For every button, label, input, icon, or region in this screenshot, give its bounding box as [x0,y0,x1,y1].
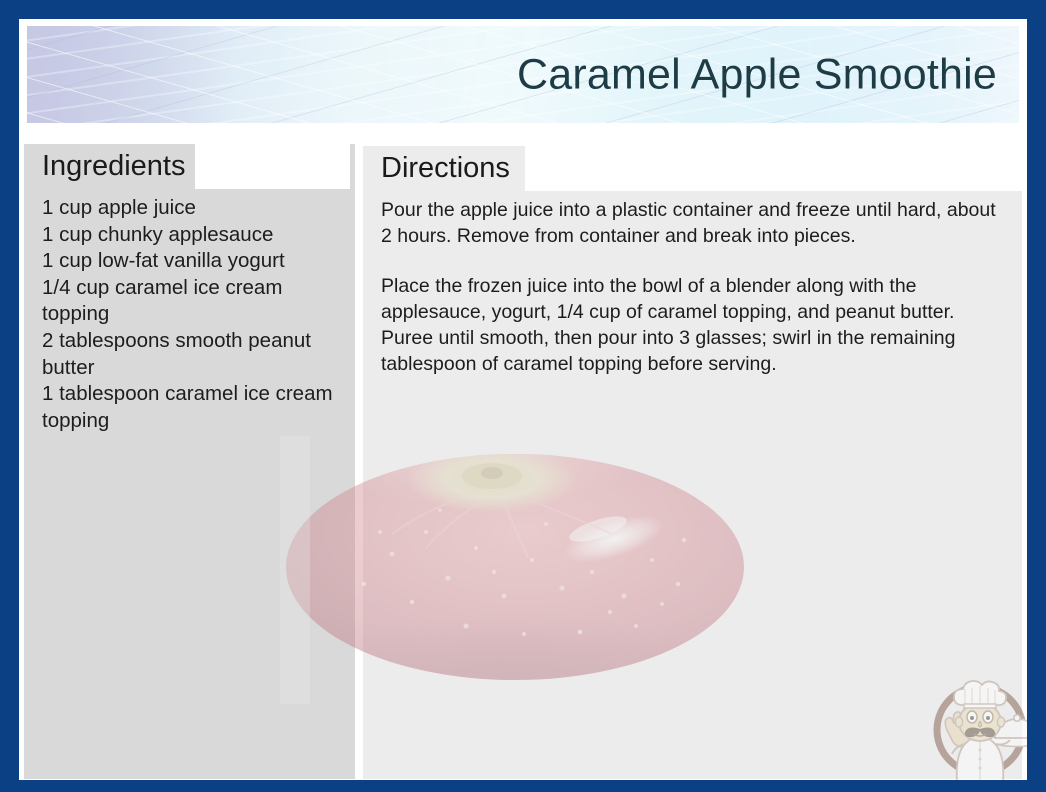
directions-heading-notch [525,146,1022,191]
directions-heading: Directions [363,147,525,190]
recipe-slide: Caramel Apple Smoothie Ingredients 1 cup… [0,0,1046,792]
title-banner: Caramel Apple Smoothie [27,26,1019,123]
ingredients-list: 1 cup apple juice 1 cup chunky applesauc… [24,195,350,434]
direction-step: Place the frozen juice into the bowl of … [381,273,1006,377]
slide-content-area: Caramel Apple Smoothie Ingredients 1 cup… [19,19,1027,780]
direction-step: Pour the apple juice into a plastic cont… [381,197,1006,249]
banner-gradient-left [27,26,237,123]
directions-body: Pour the apple juice into a plastic cont… [363,197,1022,377]
ingredients-heading: Ingredients [24,145,195,188]
recipe-title: Caramel Apple Smoothie [517,53,997,96]
ingredients-heading-notch [195,144,350,189]
